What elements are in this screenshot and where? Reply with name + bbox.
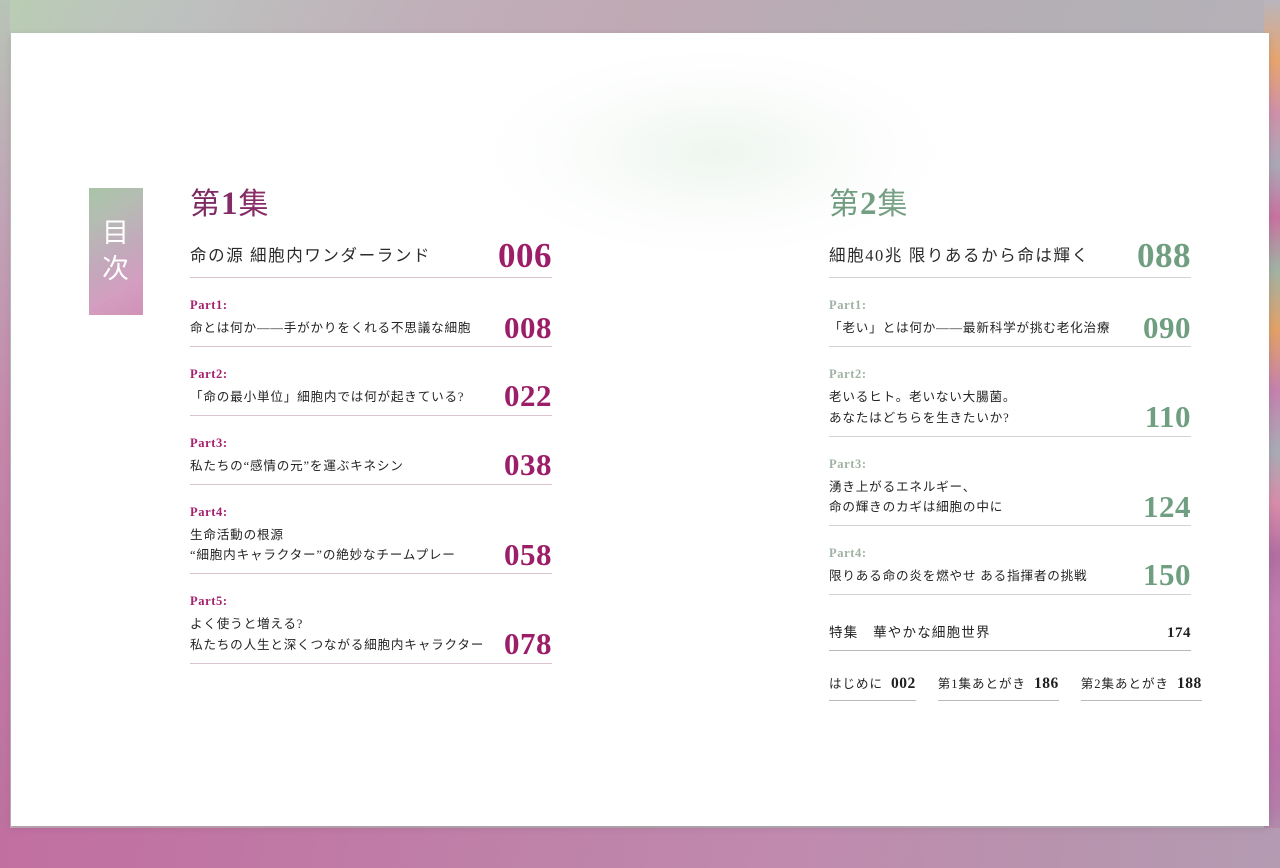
page-root: 目 次 第1集 命の源 細胞内ワンダーランド 006 Part1: <box>0 0 1280 868</box>
frame-bottom-band <box>0 828 1280 868</box>
toc-feature-row[interactable]: 特集 華やかな細胞世界 174 <box>829 621 1191 651</box>
toc-part-page: 110 <box>1145 402 1191 431</box>
toc-footer-item[interactable]: 第2集あとがき 188 <box>1081 673 1202 701</box>
volume-heading-prefix: 第 <box>190 188 220 221</box>
toc-part-title: 老いるヒト。老いない大腸菌。 あなたはどちらを生きたいか? <box>829 387 1016 429</box>
volume-heading-number: 1 <box>220 186 239 222</box>
toc-part-row[interactable]: Part5: よく使うと増える? 私たちの人生と深くつながる細胞内キャラクター … <box>190 594 552 664</box>
toc-part-title: 「老い」とは何か――最新科学が挑む老化治療 <box>829 318 1110 339</box>
volume-heading-2: 第2集 <box>829 188 1191 221</box>
volume-heading-number: 2 <box>859 186 878 222</box>
toc-part-text: Part3: 私たちの“感情の元”を運ぶキネシン <box>190 436 404 480</box>
toc-part-text: Part4: 生命活動の根源 “細胞内キャラクター”の絶妙なチームプレー <box>190 505 456 570</box>
toc-entry-main-text: 命の源 細胞内ワンダーランド <box>190 244 431 273</box>
toc-part-label: Part1: <box>829 298 1110 313</box>
toc-part-label: Part3: <box>190 436 404 451</box>
toc-entry-main-text: 細胞40兆 限りあるから命は輝く <box>829 244 1090 273</box>
toc-part-page: 058 <box>504 540 552 569</box>
toc-part-text: Part2: 老いるヒト。老いない大腸菌。 あなたはどちらを生きたいか? <box>829 367 1016 432</box>
toc-entry-main[interactable]: 命の源 細胞内ワンダーランド 006 <box>190 239 552 278</box>
toc-part-row[interactable]: Part2: 「命の最小単位」細胞内では何が起きている? 022 <box>190 367 552 416</box>
toc-tab-char-1: 目 <box>102 218 130 249</box>
toc-part-title: よく使うと増える? 私たちの人生と深くつながる細胞内キャラクター <box>190 614 484 656</box>
toc-part-page: 038 <box>504 450 552 479</box>
volume-heading-suffix: 集 <box>239 188 269 221</box>
toc-footer-item[interactable]: はじめに 002 <box>829 673 916 701</box>
toc-part-row[interactable]: Part4: 限りある命の炎を燃やせ ある指揮者の挑戦 150 <box>829 546 1191 595</box>
volume-column-1: 第1集 命の源 細胞内ワンダーランド 006 Part1: 命とは何か――手がか… <box>190 188 552 684</box>
toc-part-text: Part1: 命とは何か――手がかりをくれる不思議な細胞 <box>190 298 471 342</box>
toc-entry-title: 細胞40兆 限りあるから命は輝く <box>829 244 1090 269</box>
toc-part-label: Part5: <box>190 594 484 609</box>
volume-heading-suffix: 集 <box>878 188 908 221</box>
volume-heading-1: 第1集 <box>190 188 552 221</box>
toc-part-title: 湧き上がるエネルギー、 命の輝きのカギは細胞の中に <box>829 477 1003 519</box>
toc-part-page: 150 <box>1143 560 1191 589</box>
toc-part-title: 生命活動の根源 “細胞内キャラクター”の絶妙なチームプレー <box>190 525 456 567</box>
toc-footer-row: はじめに 002 第1集あとがき 186 第2集あとがき 188 <box>829 673 1191 701</box>
toc-part-text: Part3: 湧き上がるエネルギー、 命の輝きのカギは細胞の中に <box>829 457 1003 522</box>
toc-feature-title: 特集 華やかな細胞世界 <box>829 621 991 641</box>
toc-part-page: 008 <box>504 313 552 342</box>
toc-part-row[interactable]: Part1: 命とは何か――手がかりをくれる不思議な細胞 008 <box>190 298 552 347</box>
toc-part-label: Part3: <box>829 457 1003 472</box>
toc-part-label: Part2: <box>829 367 1016 382</box>
toc-part-text: Part4: 限りある命の炎を燃やせ ある指揮者の挑戦 <box>829 546 1087 590</box>
toc-part-page: 078 <box>504 629 552 658</box>
toc-feature-page: 174 <box>1167 625 1191 642</box>
toc-part-label: Part1: <box>190 298 471 313</box>
toc-entry-title: 命の源 細胞内ワンダーランド <box>190 244 431 269</box>
toc-part-label: Part4: <box>190 505 456 520</box>
volume-heading-prefix: 第 <box>829 188 859 221</box>
toc-part-page: 090 <box>1143 313 1191 342</box>
toc-footer-label: はじめに <box>829 673 883 692</box>
toc-part-title: 限りある命の炎を燃やせ ある指揮者の挑戦 <box>829 566 1087 587</box>
toc-part-page: 124 <box>1143 492 1191 521</box>
toc-part-row[interactable]: Part3: 湧き上がるエネルギー、 命の輝きのカギは細胞の中に 124 <box>829 457 1191 527</box>
toc-content: 目 次 第1集 命の源 細胞内ワンダーランド 006 Part1: <box>11 33 1269 826</box>
toc-tab-char-2: 次 <box>102 254 130 285</box>
toc-part-text: Part1: 「老い」とは何か――最新科学が挑む老化治療 <box>829 298 1110 342</box>
toc-part-text: Part2: 「命の最小単位」細胞内では何が起きている? <box>190 367 464 411</box>
toc-part-row[interactable]: Part2: 老いるヒト。老いない大腸菌。 あなたはどちらを生きたいか? 110 <box>829 367 1191 437</box>
frame-left-edge <box>0 0 10 868</box>
toc-tab: 目 次 <box>89 188 143 315</box>
toc-entry-page: 006 <box>498 239 552 272</box>
toc-part-row[interactable]: Part4: 生命活動の根源 “細胞内キャラクター”の絶妙なチームプレー 058 <box>190 505 552 575</box>
toc-part-row[interactable]: Part1: 「老い」とは何か――最新科学が挑む老化治療 090 <box>829 298 1191 347</box>
toc-entry-main[interactable]: 細胞40兆 限りあるから命は輝く 088 <box>829 239 1191 278</box>
toc-entry-page: 088 <box>1137 239 1191 272</box>
toc-part-title: 「命の最小単位」細胞内では何が起きている? <box>190 387 464 408</box>
toc-footer-label: 第2集あとがき <box>1081 673 1169 692</box>
toc-part-page: 022 <box>504 381 552 410</box>
toc-footer-page: 188 <box>1177 675 1202 693</box>
toc-footer-page: 002 <box>891 675 916 693</box>
volume-column-2: 第2集 細胞40兆 限りあるから命は輝く 088 Part1: 「老い」とは何か… <box>829 188 1191 701</box>
toc-footer-item[interactable]: 第1集あとがき 186 <box>938 673 1059 701</box>
toc-part-label: Part2: <box>190 367 464 382</box>
toc-footer-page: 186 <box>1034 675 1059 693</box>
toc-footer-label: 第1集あとがき <box>938 673 1026 692</box>
toc-part-title: 命とは何か――手がかりをくれる不思議な細胞 <box>190 318 471 339</box>
toc-part-row[interactable]: Part3: 私たちの“感情の元”を運ぶキネシン 038 <box>190 436 552 485</box>
paper-sheet: 目 次 第1集 命の源 細胞内ワンダーランド 006 Part1: <box>11 33 1269 826</box>
toc-part-text: Part5: よく使うと増える? 私たちの人生と深くつながる細胞内キャラクター <box>190 594 484 659</box>
toc-part-label: Part4: <box>829 546 1087 561</box>
toc-part-title: 私たちの“感情の元”を運ぶキネシン <box>190 456 404 477</box>
